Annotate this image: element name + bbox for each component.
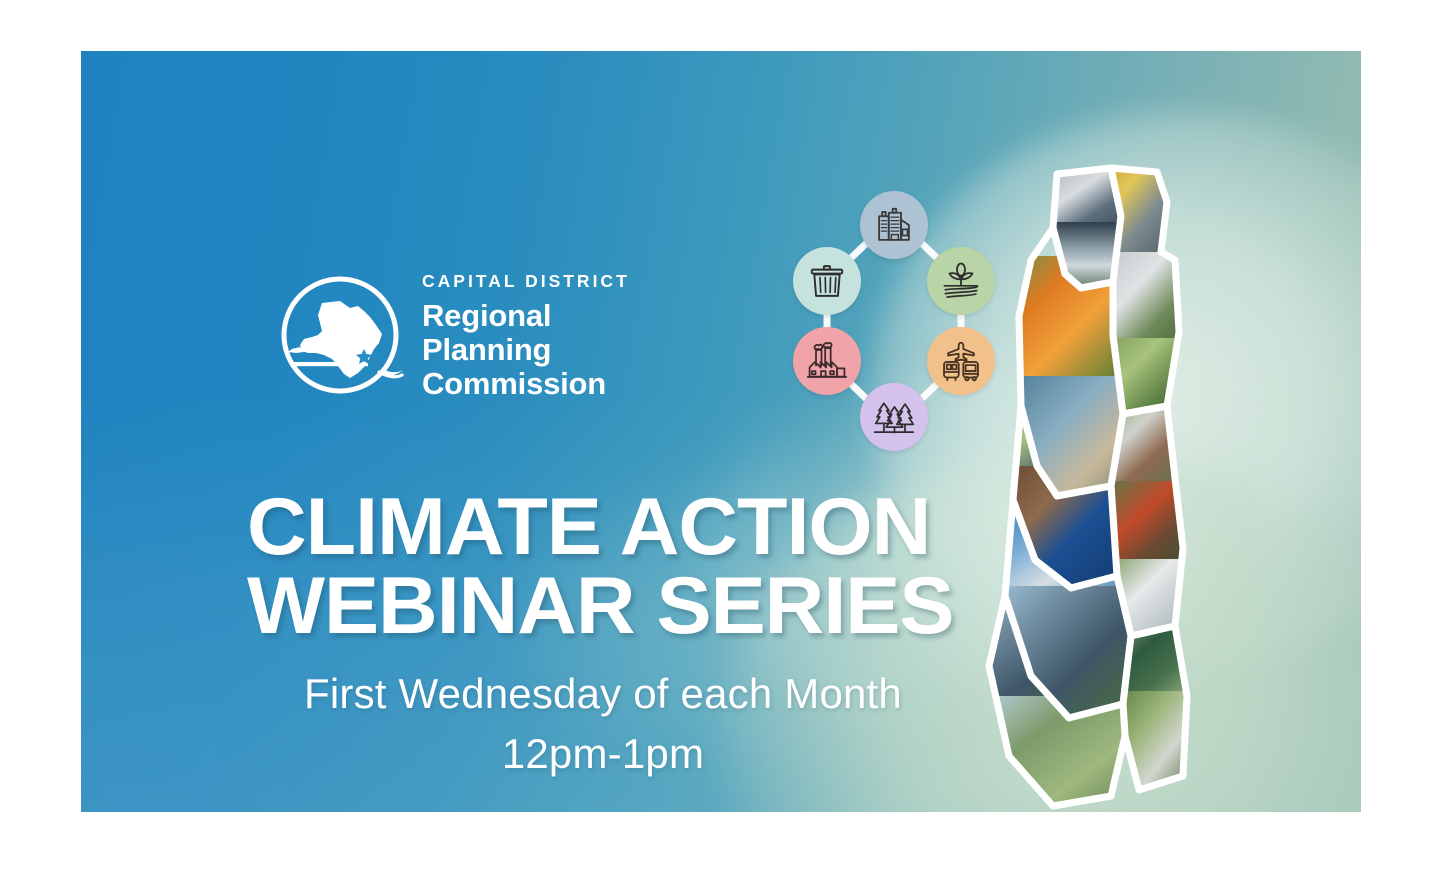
headline-line-2: WEBINAR SERIES [247,567,1002,646]
wheel-node-industry[interactable] [793,327,861,395]
subtitle-line-frequency: First Wednesday of each Month [247,664,959,724]
buildings-icon [873,204,915,246]
logo-line-planning: Planning [422,333,630,367]
page-title: CLIMATE ACTION WEBINAR SERIES [247,488,987,647]
wheel-node-forests[interactable] [860,383,928,451]
trees-icon [872,395,916,439]
new-york-state-outline-in-circle-icon [278,273,406,401]
logo-wordmark: CAPITAL DISTRICT Regional Planning Commi… [422,273,630,401]
headline-line-1: CLIMATE ACTION [247,488,1002,567]
trash-can-icon [806,260,848,302]
poster-canvas-page: CAPITAL DISTRICT Regional Planning Commi… [0,0,1433,874]
subtitle-line-time: 12pm-1pm [247,724,959,784]
wheel-node-waste[interactable] [793,247,861,315]
crpc-logo: CAPITAL DISTRICT Regional Planning Commi… [278,273,630,401]
capital-district-counties-photo-collage [961,156,1331,812]
factory-icon [805,339,849,383]
logo-eyebrow-text: CAPITAL DISTRICT [422,273,630,291]
schedule-subtitle: First Wednesday of each Month 12pm-1pm [247,664,959,783]
county-collage-svg [961,156,1331,812]
wheel-node-buildings[interactable] [860,191,928,259]
logo-line-regional: Regional [422,299,630,333]
climate-action-poster: CAPITAL DISTRICT Regional Planning Commi… [81,51,1361,812]
logo-line-commission: Commission [422,367,630,401]
